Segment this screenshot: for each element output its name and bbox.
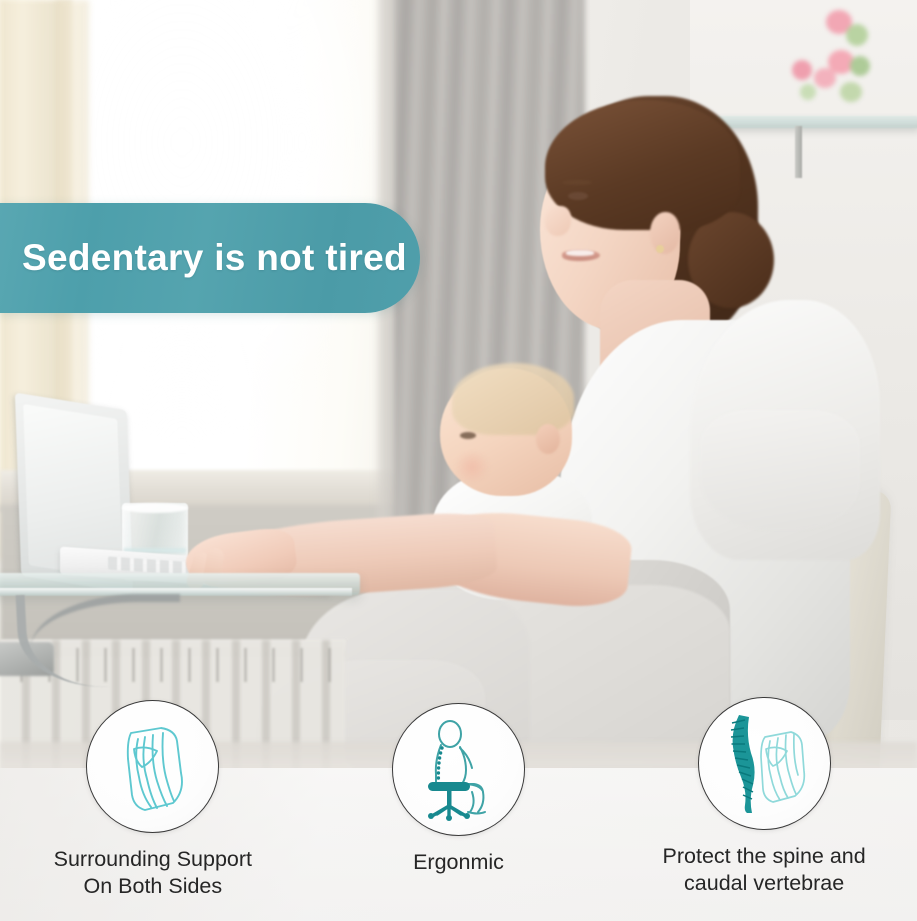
baby-cheek	[452, 452, 492, 482]
feature-icon-circle	[392, 703, 525, 836]
feature-ergonomic: Ergonmic	[308, 700, 608, 876]
shelf-bracket	[795, 126, 802, 178]
woman-earring	[656, 245, 664, 253]
feature-label-line1: Ergonmic	[413, 849, 504, 876]
feature-label-line2: On Both Sides	[54, 873, 252, 900]
woman-teeth	[566, 250, 594, 256]
feature-label-line1: Surrounding Support	[54, 846, 252, 873]
baby-hair	[452, 363, 574, 435]
feature-label: Protect the spine and caudal vertebrae	[663, 843, 866, 897]
baby-ear	[536, 424, 560, 454]
headline-text: Sedentary is not tired	[22, 237, 407, 279]
woman-eye	[568, 192, 588, 200]
feature-surrounding-support: Surrounding Support On Both Sides	[3, 700, 303, 900]
feature-protect-spine: Protect the spine and caudal vertebrae	[614, 700, 914, 897]
spine-and-cushion-icon	[709, 709, 819, 819]
feature-label: Ergonmic	[413, 849, 504, 876]
feature-label: Surrounding Support On Both Sides	[54, 846, 252, 900]
headline-banner: Sedentary is not tired	[0, 203, 420, 313]
lumbar-cushion-outline-icon	[101, 715, 205, 819]
woman-hair-front	[545, 100, 740, 230]
feature-icon-circle	[86, 700, 219, 833]
woman-sleeve	[700, 410, 860, 530]
woman-ear	[650, 212, 680, 254]
seated-posture-spine-icon	[406, 718, 510, 822]
baby-eye	[460, 432, 476, 439]
glass-shelf	[700, 116, 917, 128]
stool	[428, 782, 470, 821]
feature-list: Surrounding Support On Both Sides	[0, 700, 917, 921]
woman-nose	[545, 206, 571, 236]
water-glass-rim	[122, 503, 188, 513]
feature-icon-circle	[698, 697, 831, 830]
pink-flowers	[780, 6, 885, 118]
product-marketing-image: Sedentary is not tired	[0, 0, 917, 921]
feature-label-line1: Protect the spine and	[663, 843, 866, 870]
feature-label-line2: caudal vertebrae	[663, 870, 866, 897]
cushion-outline	[761, 732, 804, 802]
woman-eyebrow	[562, 180, 592, 185]
